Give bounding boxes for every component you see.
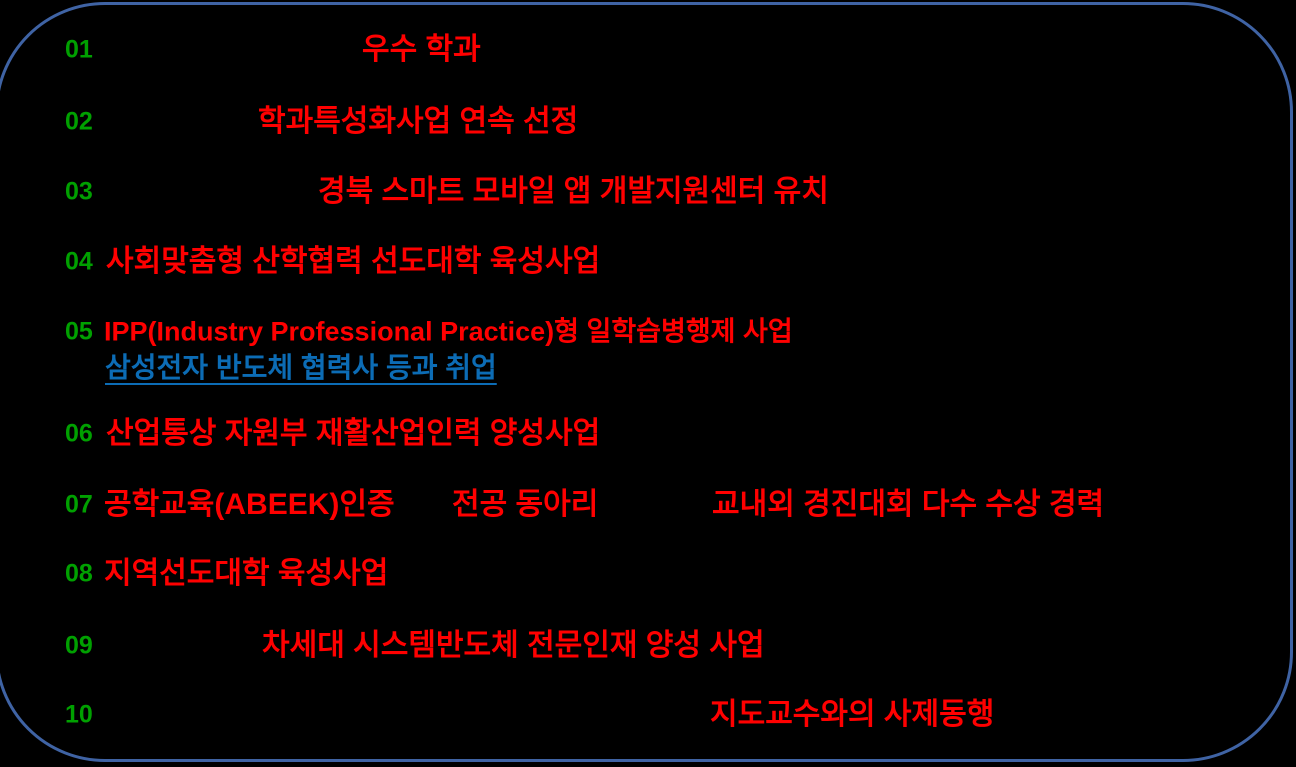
- item-number: 04: [65, 250, 93, 275]
- item-number: 09: [65, 634, 93, 659]
- item-sublabel-link[interactable]: 삼성전자 반도체 협력사 등과 취업: [105, 354, 497, 382]
- item-label: 지역선도대학 육성사업: [104, 559, 388, 589]
- item-label: 학과특성화사업 연속 선정: [258, 107, 578, 137]
- slide-canvas: 01우수 학과02학과특성화사업 연속 선정03경북 스마트 모바일 앱 개발지…: [0, 0, 1296, 767]
- item-number: 10: [65, 703, 93, 728]
- item-label: 교내외 경진대회 다수 수상 경력: [712, 490, 1104, 520]
- item-number: 06: [65, 422, 93, 447]
- item-number: 03: [65, 180, 93, 205]
- item-label: 산업통상 자원부 재활산업인력 양성사업: [106, 419, 600, 449]
- item-number: 02: [65, 110, 93, 135]
- item-label: IPP(Industry Professional Practice)형 일학습…: [104, 319, 793, 346]
- item-label: 차세대 시스템반도체 전문인재 양성 사업: [262, 631, 765, 661]
- item-label: 사회맞춤형 산학협력 선도대학 육성사업: [106, 247, 600, 277]
- item-number: 01: [65, 38, 93, 63]
- item-number: 07: [65, 493, 93, 518]
- item-label: 지도교수와의 사제동행: [710, 700, 994, 730]
- item-label: 우수 학과: [362, 35, 481, 65]
- item-number: 08: [65, 562, 93, 587]
- item-label: 공학교육(ABEEK)인증: [104, 490, 395, 520]
- item-label: 경북 스마트 모바일 앱 개발지원센터 유치: [318, 177, 829, 207]
- item-number: 05: [65, 320, 93, 345]
- item-label: 전공 동아리: [452, 490, 598, 520]
